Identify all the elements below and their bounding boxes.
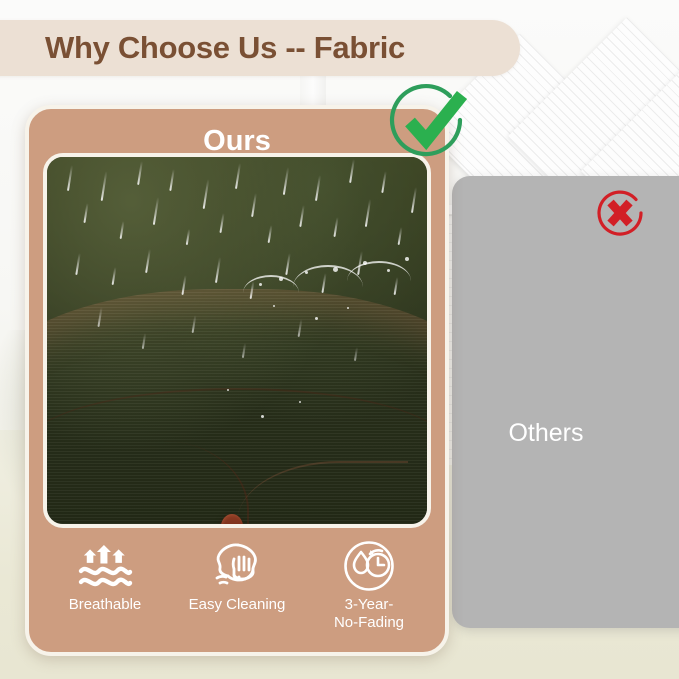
header-banner: Why Choose Us -- Fabric: [0, 20, 520, 76]
feature-row: Breathable: [39, 541, 435, 632]
page-title: Why Choose Us -- Fabric: [45, 30, 405, 66]
feature-label: 3-Year- No-Fading: [303, 596, 435, 632]
feature-easy-cleaning: Easy Cleaning: [171, 541, 303, 614]
others-card: Others Stuffy & Hard Stains Easily Fades…: [452, 176, 679, 628]
feature-label: Breathable: [39, 596, 171, 614]
feature-label: Easy Cleaning: [171, 596, 303, 614]
photo-cushion: [43, 289, 431, 528]
feature-no-fading: 3-Year- No-Fading: [303, 541, 435, 632]
ours-product-photo: [43, 153, 431, 528]
breathable-icon: [39, 541, 171, 591]
no-fading-icon: [303, 541, 435, 591]
others-title: Others: [452, 419, 640, 448]
easy-cleaning-icon: [171, 541, 303, 591]
check-mark-icon: [386, 82, 470, 166]
comparison-infographic: Why Choose Us -- Fabric Others Stuffy & …: [0, 0, 679, 679]
feature-breathable: Breathable: [39, 541, 171, 614]
ours-card: Ours: [25, 105, 449, 656]
x-mark-icon: [592, 185, 648, 241]
